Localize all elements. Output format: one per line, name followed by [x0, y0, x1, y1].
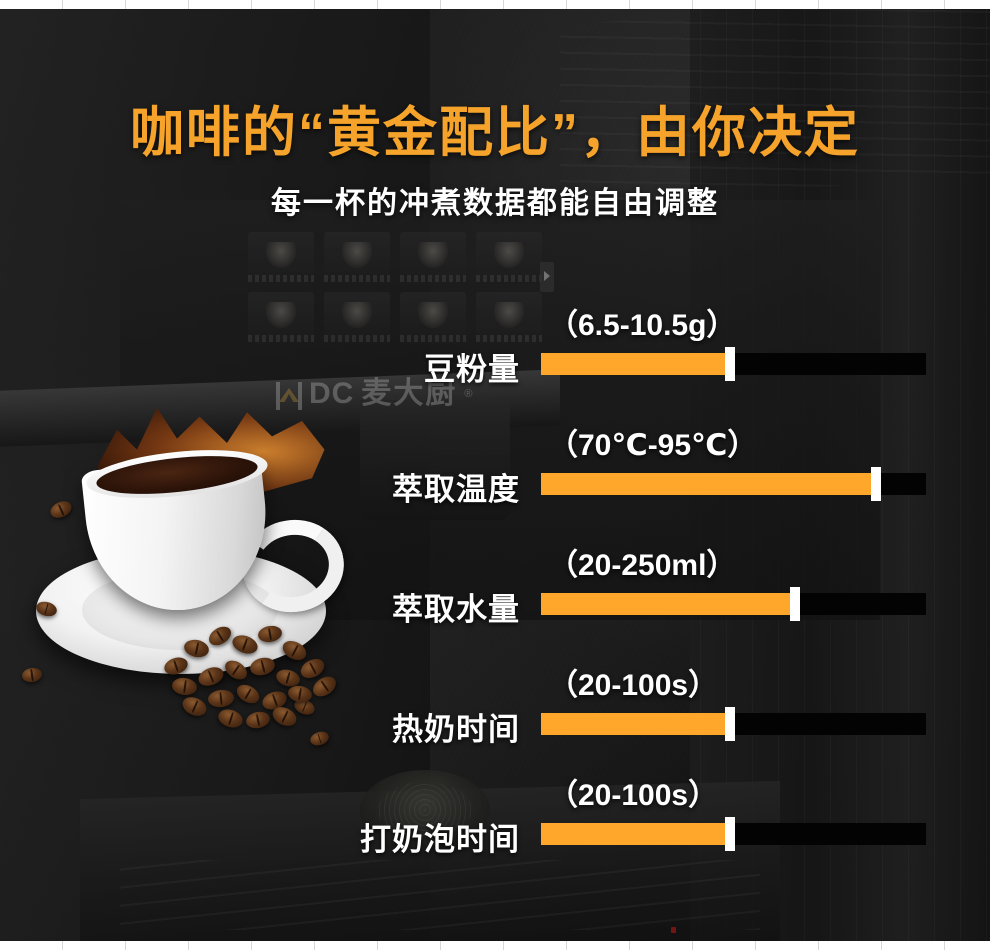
- slider-handle[interactable]: [790, 587, 800, 621]
- slider-fill: [541, 713, 726, 735]
- setting-slider[interactable]: [541, 473, 926, 495]
- setting-range-text: （6.5-10.5g）: [0, 300, 990, 344]
- setting-label: 萃取温度: [0, 464, 520, 509]
- setting-label: 萃取水量: [0, 584, 520, 629]
- setting-range-text: （20-250ml）: [0, 540, 990, 584]
- setting-label: 打奶泡时间: [0, 814, 520, 859]
- setting-range-text: （70℃-95℃）: [0, 420, 990, 464]
- setting-row: （20-250ml）萃取水量: [0, 540, 990, 640]
- setting-label: 豆粉量: [0, 344, 520, 389]
- setting-slider[interactable]: [541, 593, 926, 615]
- setting-range-text: （20-100s）: [0, 770, 990, 814]
- setting-slider[interactable]: [541, 353, 926, 375]
- setting-slider[interactable]: [541, 713, 926, 735]
- setting-row: （20-100s）打奶泡时间: [0, 770, 990, 870]
- setting-row: （70℃-95℃）萃取温度: [0, 420, 990, 520]
- slider-fill: [541, 473, 872, 495]
- setting-range-text: （20-100s）: [0, 660, 990, 704]
- slider-fill: [541, 353, 726, 375]
- slider-fill: [541, 593, 791, 615]
- setting-row: （20-100s）热奶时间: [0, 660, 990, 760]
- slider-fill: [541, 823, 726, 845]
- setting-label: 热奶时间: [0, 704, 520, 749]
- slider-handle[interactable]: [725, 817, 735, 851]
- setting-slider[interactable]: [541, 823, 926, 845]
- slider-handle[interactable]: [725, 707, 735, 741]
- page-bottom-edge: [0, 941, 990, 950]
- slider-handle[interactable]: [725, 347, 735, 381]
- setting-row: （6.5-10.5g）豆粉量: [0, 300, 990, 400]
- page-top-edge: [0, 0, 990, 9]
- settings-slider-list: （6.5-10.5g）豆粉量（70℃-95℃）萃取温度（20-250ml）萃取水…: [0, 0, 990, 950]
- product-detail-page: DC 麦大厨 ® 咖啡的“黄金配比”，由你决定 每一杯的冲煮数据都能自由调整 （…: [0, 0, 990, 950]
- slider-handle[interactable]: [871, 467, 881, 501]
